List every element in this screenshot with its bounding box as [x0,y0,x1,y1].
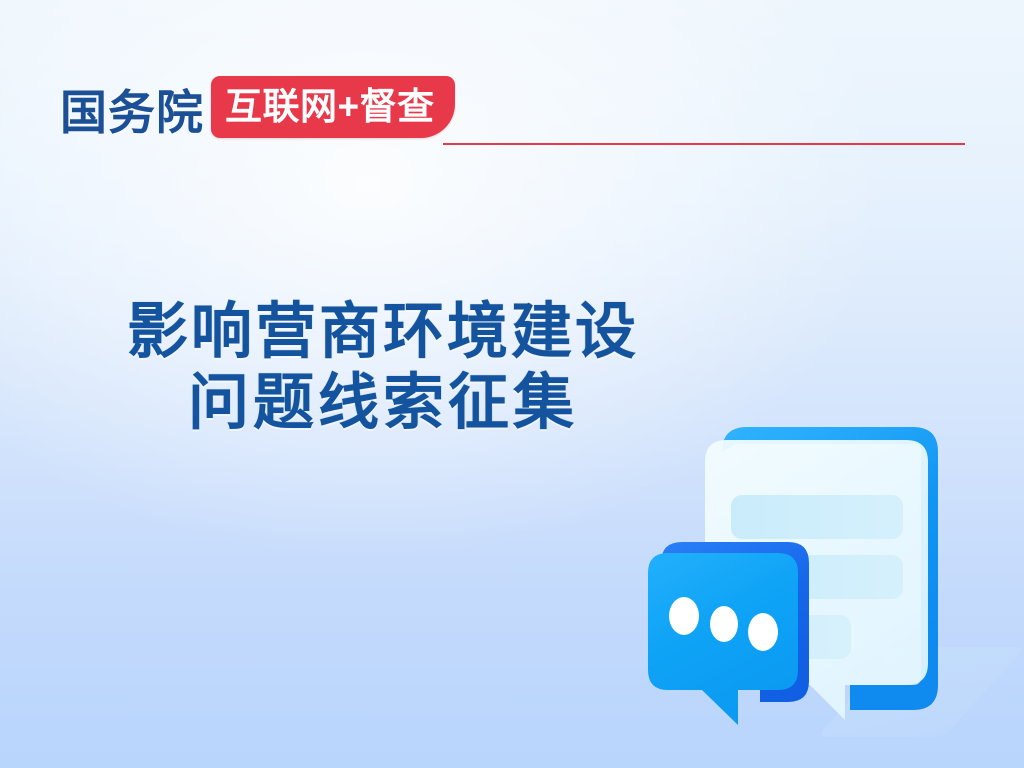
brand-lockup: 国务院 互联网+督查 [60,76,455,138]
program-badge: 互联网+督查 [211,76,455,138]
poster-canvas: 国务院 互联网+督查 影响营商环境建设 问题线索征集 [0,0,1024,768]
poster-header: 国务院 互联网+督查 [0,0,1024,170]
page-title-line-1: 影响营商环境建设 [0,296,766,367]
small-bubble [648,542,809,725]
organization-name: 国务院 [60,89,204,138]
chat-bubbles-svg [610,395,1024,768]
header-divider-line [443,143,965,145]
chat-bubbles-illustration [610,395,1024,768]
